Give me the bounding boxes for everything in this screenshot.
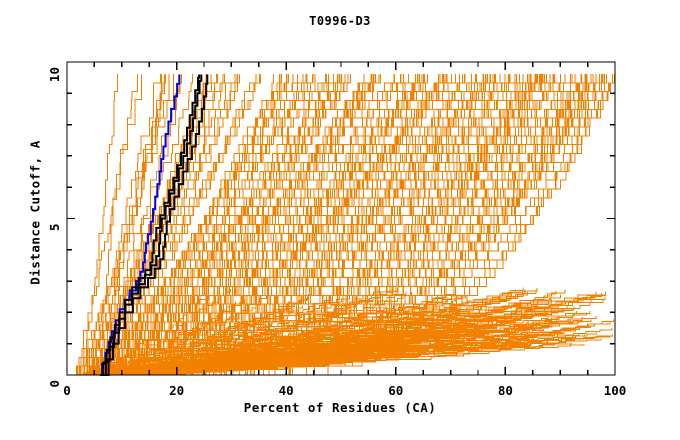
x-tick-label: 80 — [498, 383, 513, 398]
x-axis-label: Percent of Residues (CA) — [0, 400, 680, 415]
y-tick-label: 10 — [47, 67, 62, 82]
x-tick-label: 20 — [169, 383, 184, 398]
y-tick-label: 5 — [47, 224, 62, 232]
plot-area: 0204060801000510 — [0, 0, 680, 440]
y-axis-label: Distance Cutoff, A — [28, 93, 43, 333]
x-tick-label: 0 — [63, 383, 71, 398]
plot-svg: 0204060801000510 — [0, 0, 680, 440]
y-tick-label: 0 — [47, 380, 62, 388]
x-tick-label: 40 — [279, 383, 294, 398]
x-tick-label: 100 — [604, 383, 627, 398]
x-tick-label: 60 — [388, 383, 403, 398]
chart-figure: T0996-D3 0204060801000510 Percent of Res… — [0, 0, 680, 440]
